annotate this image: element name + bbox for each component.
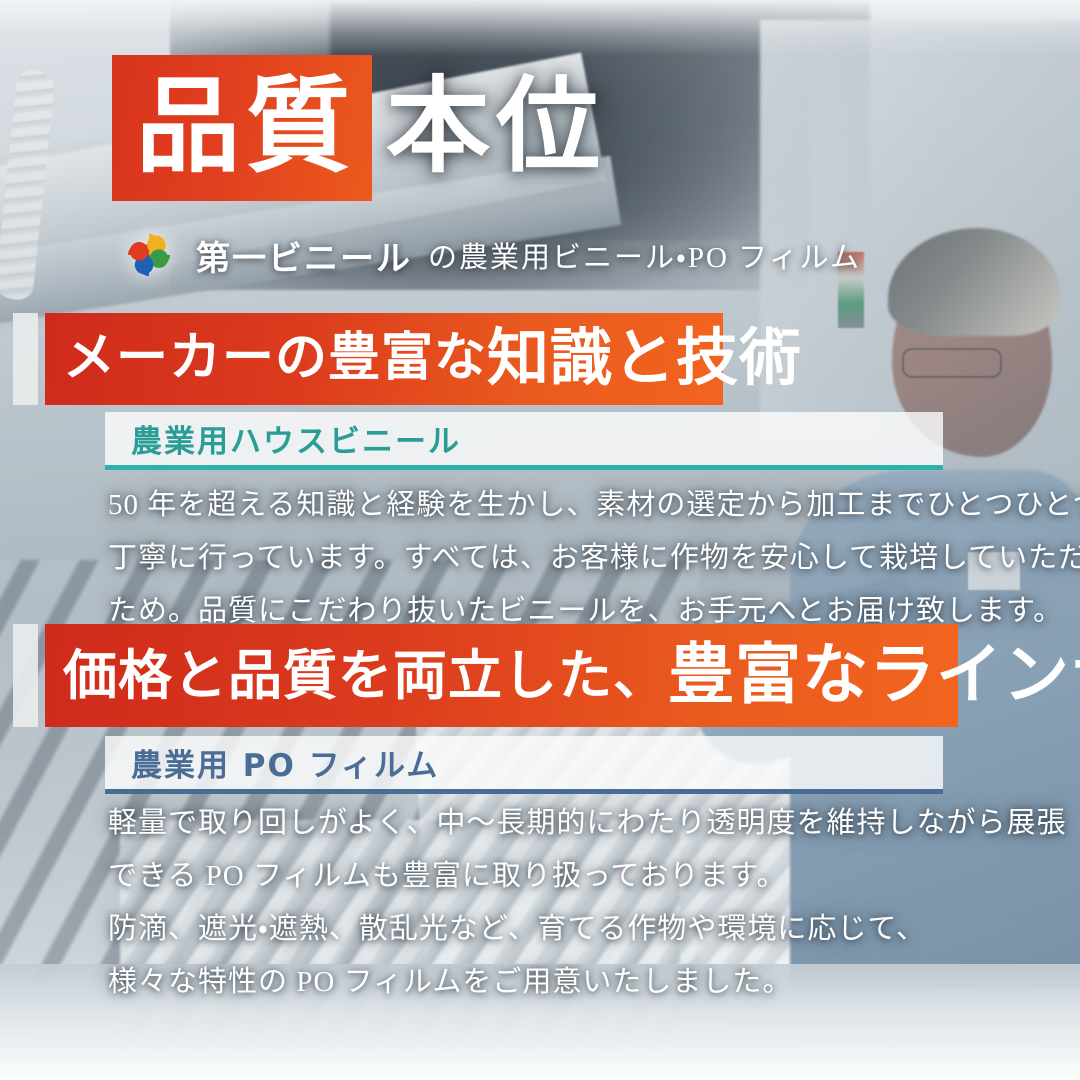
body-2-line-2: できる PO フィルムも豊富に取り扱っております。	[108, 853, 1067, 900]
brand-line: 第一ビニール の農業用ビニール・PO フィルム	[118, 224, 861, 286]
subheading-text-1: 農業用ハウスビニール	[131, 416, 461, 461]
ribbon-1-big-text: 知識と技術	[487, 328, 802, 390]
body-paragraph-2: 軽量で取り回しがよく、中〜長期的にわたり透明度を維持しながら展張 できる PO …	[108, 800, 1067, 1012]
brand-name: 第一ビニール	[196, 231, 412, 280]
ribbon-accent-bar-2	[13, 624, 38, 727]
subheading-plate-1: 農業用ハウスビニール	[105, 412, 943, 470]
title-plain-text: 本位	[372, 76, 606, 180]
body-2-line-3: 防滴、遮光・遮熱、散乱光など、育てる作物や環境に応じて、	[108, 906, 1067, 953]
section-ribbon-2: 価格と品質を両立した、 豊富なラインナップ	[45, 624, 958, 727]
body-2-line-4: 様々な特性の PO フィルムをご用意いたしました。	[108, 959, 1067, 1006]
body-2-line-1: 軽量で取り回しがよく、中〜長期的にわたり透明度を維持しながら展張	[108, 800, 1067, 847]
body-1-line-2: 丁寧に行っています。すべては、お客様に作物を安心して栽培していただく	[108, 535, 1080, 582]
banner-content: 品質 本位 第一ビニール の農業用ビニール・PO フィルム	[0, 0, 1080, 1080]
brand-tagline: の農業用ビニール・PO フィルム	[428, 234, 861, 276]
body-1-line-1: 50 年を超える知識と経験を生かし、素材の選定から加工までひとつひとつ	[108, 482, 1080, 529]
ribbon-1-small-text: メーカーの豊富な	[63, 333, 487, 385]
subheading-plate-2: 農業用 PO フィルム	[105, 736, 943, 794]
ribbon-2-big-text: 豊富なラインナップ	[668, 643, 1080, 709]
title-highlight-block: 品質	[112, 55, 372, 201]
section-ribbon-1: メーカーの豊富な 知識と技術	[45, 313, 723, 405]
body-paragraph-1: 50 年を超える知識と経験を生かし、素材の選定から加工までひとつひとつ 丁寧に行…	[108, 482, 1080, 641]
page-title: 品質 本位	[112, 55, 606, 201]
subheading-text-2: 農業用 PO フィルム	[131, 740, 439, 785]
promotional-banner: 品質 本位 第一ビニール の農業用ビニール・PO フィルム	[0, 0, 1080, 1080]
pinwheel-logo-icon	[118, 224, 180, 286]
title-highlighted-text: 品質	[136, 76, 356, 180]
ribbon-accent-bar-1	[13, 313, 38, 405]
ribbon-2-small-text: 価格と品質を両立した、	[63, 649, 668, 703]
